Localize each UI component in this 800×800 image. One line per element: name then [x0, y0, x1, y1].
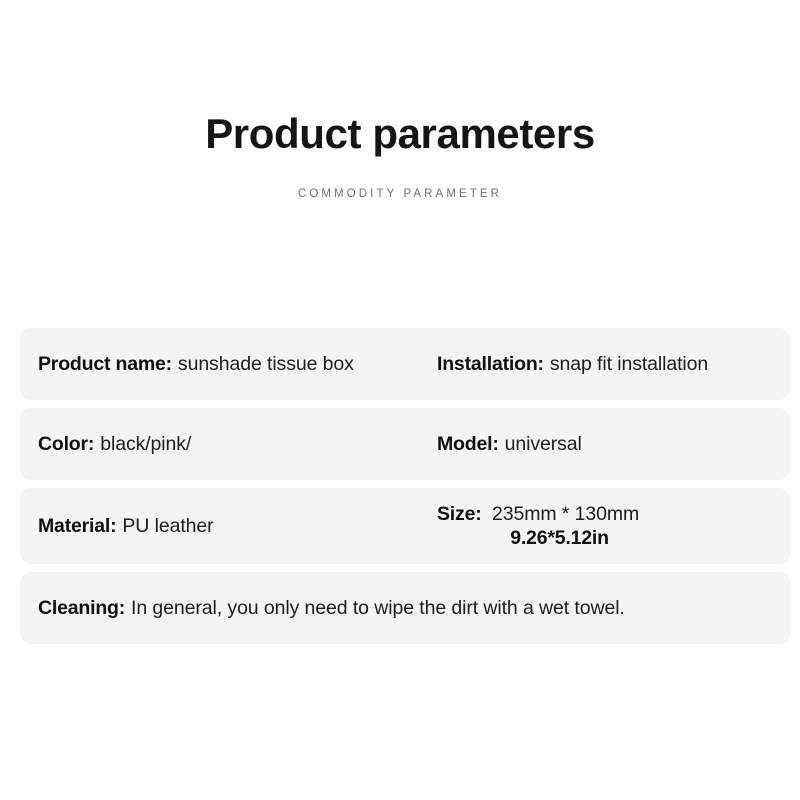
page-header: Product parameters COMMODITY PARAMETER: [0, 112, 800, 200]
spec-cell-color: Color: black/pink/: [38, 433, 437, 456]
spec-label-material: Material:: [38, 515, 116, 538]
spec-cell-material: Material: PU leather: [38, 515, 437, 538]
spec-cell-installation: Installation: snap fit installation: [437, 353, 772, 376]
spec-cell-product-name: Product name: sunshade tissue box: [38, 353, 437, 376]
spec-value-model: universal: [505, 433, 582, 456]
spec-label-cleaning: Cleaning:: [38, 597, 125, 620]
spec-value-material: PU leather: [122, 515, 213, 538]
spec-value-installation: snap fit installation: [550, 353, 708, 376]
spec-label-model: Model:: [437, 433, 499, 456]
spec-value-product-name: sunshade tissue box: [178, 353, 354, 376]
spec-size-primary-line: Size: 235mm * 130mm: [437, 503, 772, 526]
spec-label-installation: Installation:: [437, 353, 544, 376]
table-row: Material: PU leather Size: 235mm * 130mm…: [20, 488, 790, 564]
spec-label-product-name: Product name:: [38, 353, 172, 376]
spec-value-color: black/pink/: [100, 433, 191, 456]
product-parameters-page: Product parameters COMMODITY PARAMETER P…: [0, 0, 800, 800]
spec-label-color: Color:: [38, 433, 94, 456]
table-row: Cleaning: In general, you only need to w…: [20, 572, 790, 644]
page-subtitle: COMMODITY PARAMETER: [0, 188, 800, 200]
spec-cell-size: Size: 235mm * 130mm 9.26*5.12in: [437, 503, 772, 550]
spec-label-size: Size:: [437, 503, 482, 525]
table-row: Product name: sunshade tissue box Instal…: [20, 328, 790, 400]
page-title: Product parameters: [0, 112, 800, 156]
table-row: Color: black/pink/ Model: universal: [20, 408, 790, 480]
spec-cell-cleaning: Cleaning: In general, you only need to w…: [38, 597, 772, 620]
spec-table: Product name: sunshade tissue box Instal…: [20, 328, 790, 652]
spec-value-size-mm: 235mm * 130mm: [492, 503, 639, 525]
spec-value-size-inches: 9.26*5.12in: [437, 527, 682, 550]
spec-cell-model: Model: universal: [437, 433, 772, 456]
spec-value-cleaning: In general, you only need to wipe the di…: [131, 597, 625, 620]
